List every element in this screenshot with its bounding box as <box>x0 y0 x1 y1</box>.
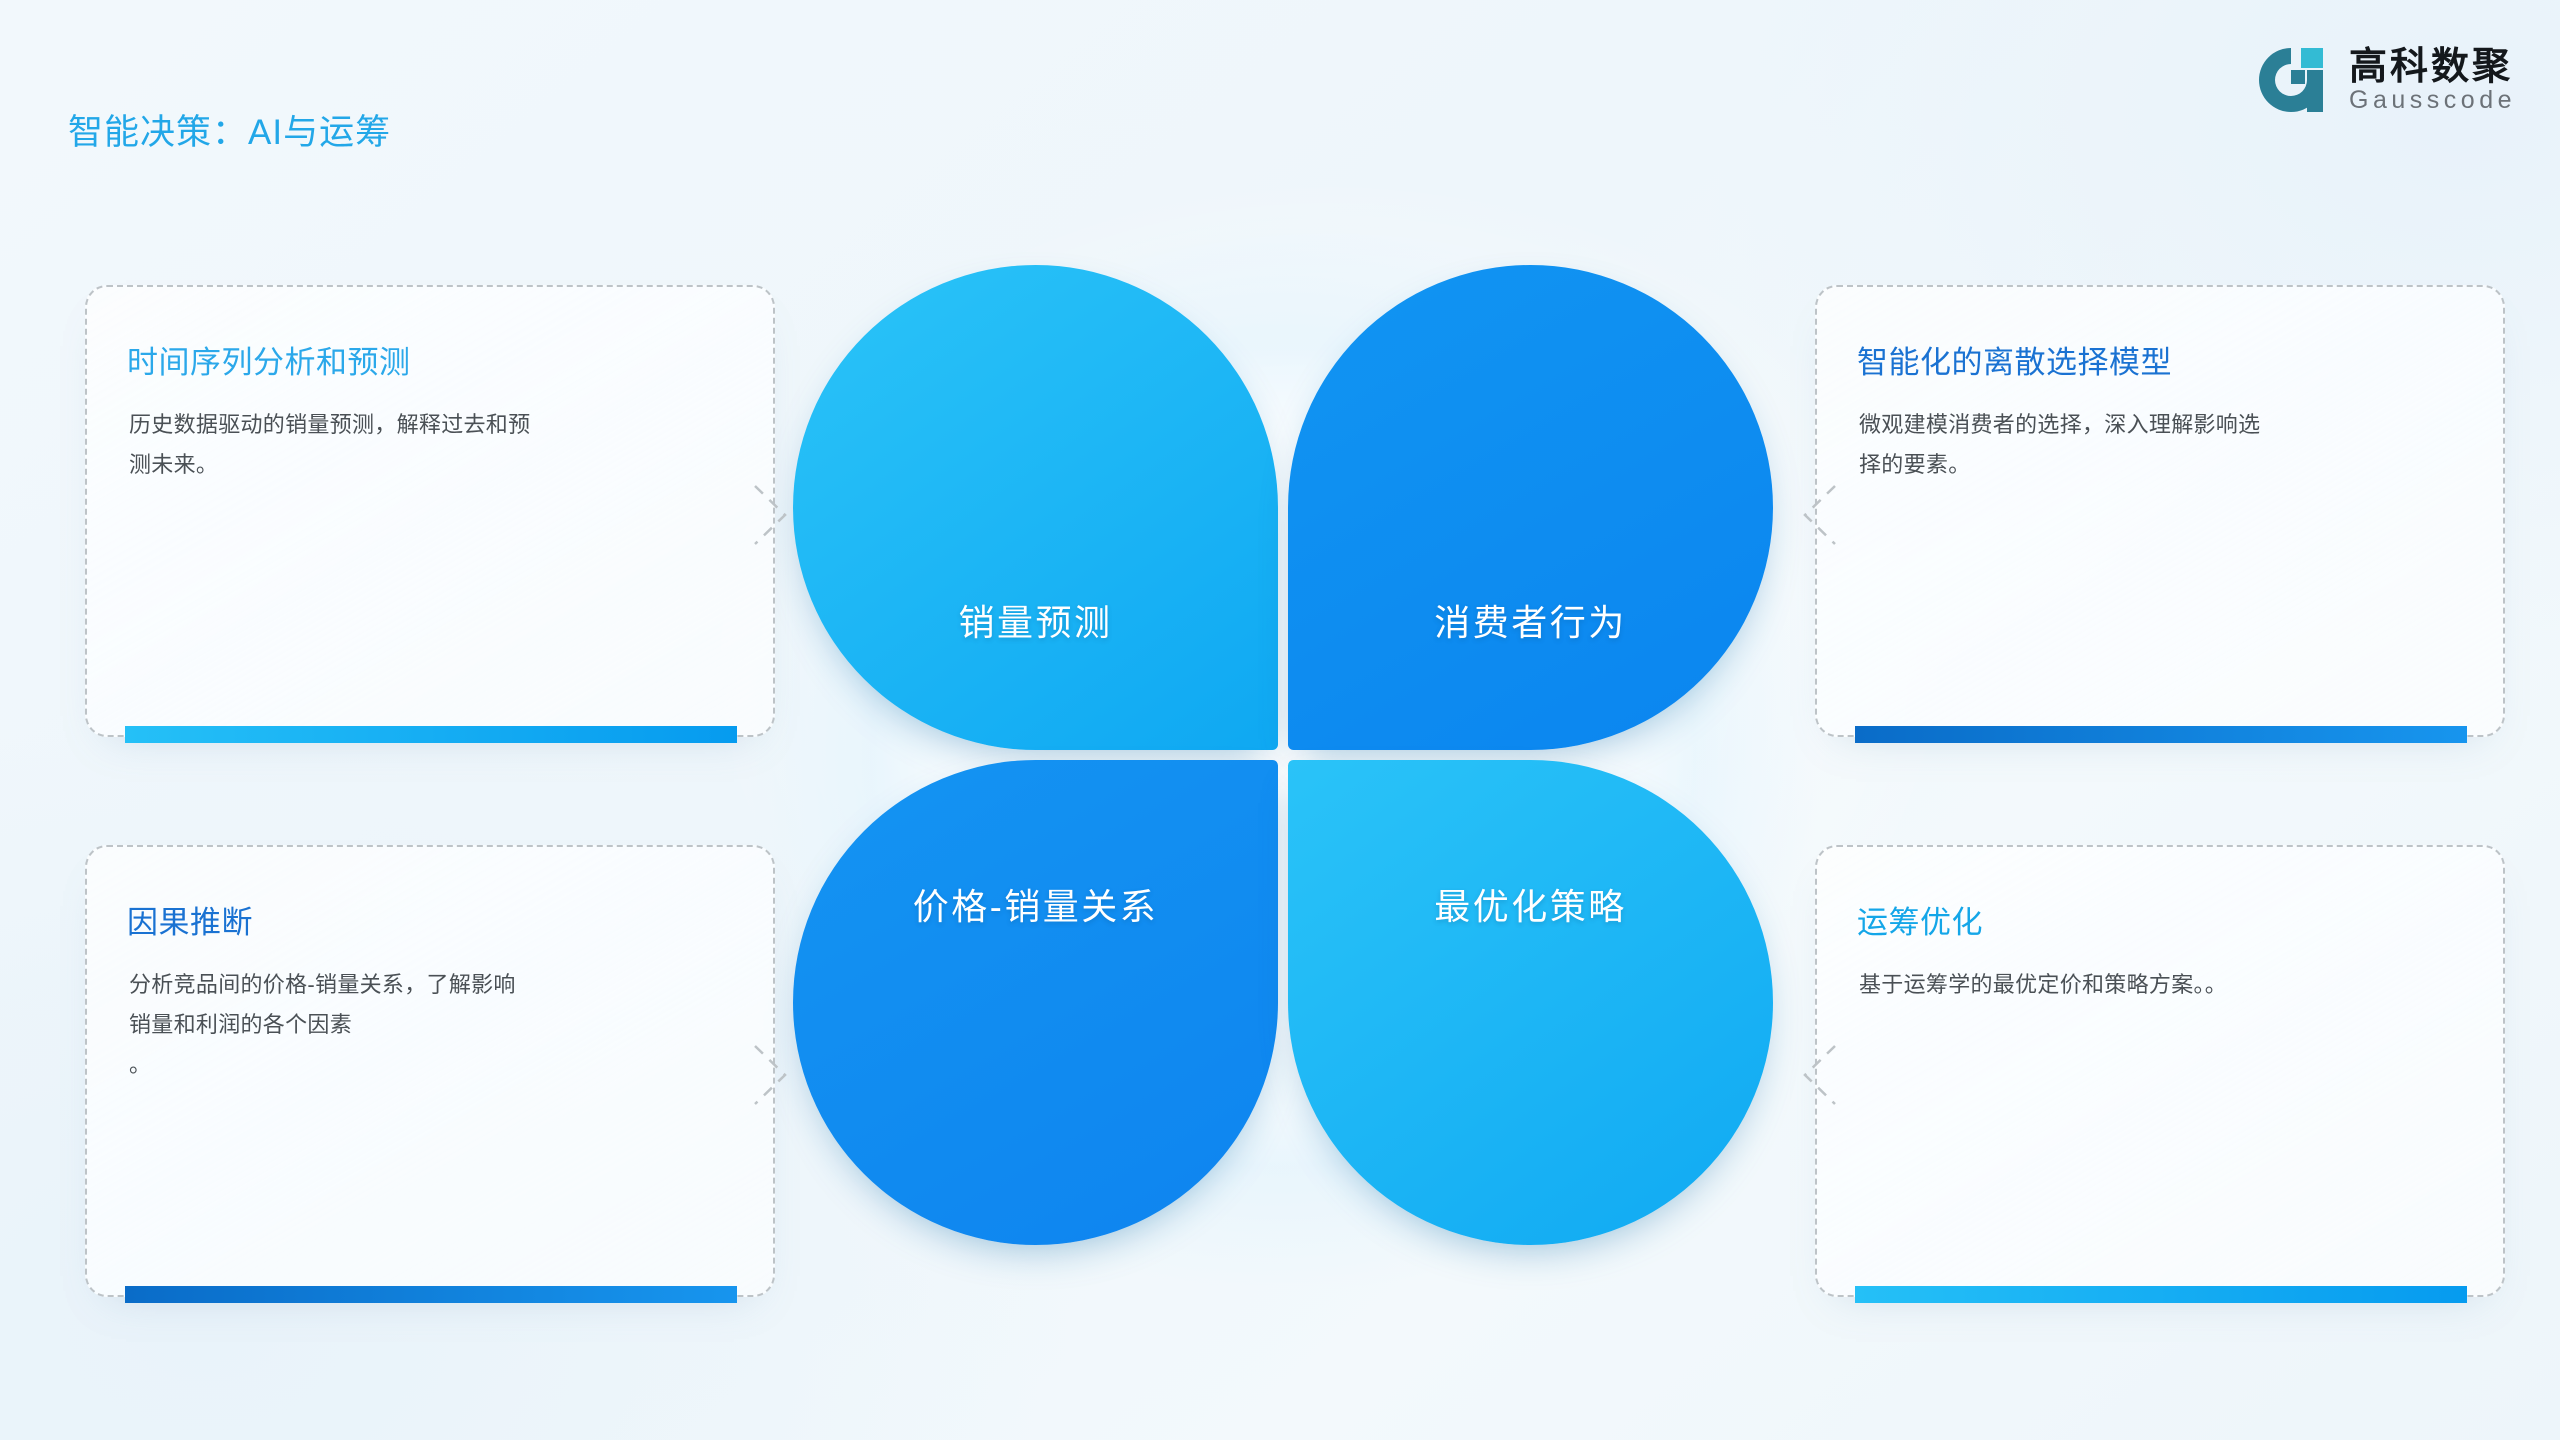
petal-consumer-behavior[interactable]: 消费者行为 <box>1288 265 1773 750</box>
card-description: 分析竞品间的价格-销量关系，了解影响 销量和利润的各个因素 。 <box>129 965 729 1085</box>
card-discrete-choice-model[interactable]: 智能化的离散选择模型 微观建模消费者的选择，深入理解影响选 择的要素。 <box>1815 285 2505 737</box>
gausscode-logo-mark <box>2251 40 2331 120</box>
four-petal-diagram: 销量预测 消费者行为 价格-销量关系 最优化策略 <box>783 255 1783 1255</box>
connector-arrow-icon <box>1793 1040 1839 1110</box>
card-accent-bar <box>125 726 737 743</box>
card-title: 因果推断 <box>127 897 253 942</box>
petal-label: 价格-销量关系 <box>793 878 1278 930</box>
card-accent-bar <box>1855 1286 2467 1303</box>
petal-optimization-strategy[interactable]: 最优化策略 <box>1288 760 1773 1245</box>
card-accent-bar <box>125 1286 737 1303</box>
card-title: 时间序列分析和预测 <box>127 337 411 382</box>
card-time-series-analysis[interactable]: 时间序列分析和预测 历史数据驱动的销量预测，解释过去和预 测未来。 <box>85 285 775 737</box>
connector-arrow-icon <box>751 480 797 550</box>
petal-price-sales-relation[interactable]: 价格-销量关系 <box>793 760 1278 1245</box>
card-operations-optimization[interactable]: 运筹优化 基于运筹学的最优定价和策略方案。。 <box>1815 845 2505 1297</box>
logo-wordmark: 高科数聚 Gausscode <box>2349 48 2516 113</box>
card-description: 微观建模消费者的选择，深入理解影响选 择的要素。 <box>1859 405 2459 485</box>
connector-arrow-icon <box>1793 480 1839 550</box>
petal-label: 消费者行为 <box>1288 594 1773 646</box>
brand-logo: 高科数聚 Gausscode <box>2251 40 2516 120</box>
card-description: 历史数据驱动的销量预测，解释过去和预 测未来。 <box>129 405 729 485</box>
page-title: 智能决策：AI与运筹 <box>68 104 391 155</box>
logo-name-en: Gausscode <box>2349 88 2516 113</box>
card-accent-bar <box>1855 726 2467 743</box>
petal-label: 销量预测 <box>793 594 1278 646</box>
card-title: 智能化的离散选择模型 <box>1857 337 2172 382</box>
card-title: 运筹优化 <box>1857 897 1983 942</box>
card-description: 基于运筹学的最优定价和策略方案。。 <box>1859 965 2459 1005</box>
petal-sales-forecast[interactable]: 销量预测 <box>793 265 1278 750</box>
logo-name-cn: 高科数聚 <box>2349 48 2516 86</box>
connector-arrow-icon <box>751 1040 797 1110</box>
petal-label: 最优化策略 <box>1288 878 1773 930</box>
card-causal-inference[interactable]: 因果推断 分析竞品间的价格-销量关系，了解影响 销量和利润的各个因素 。 <box>85 845 775 1297</box>
